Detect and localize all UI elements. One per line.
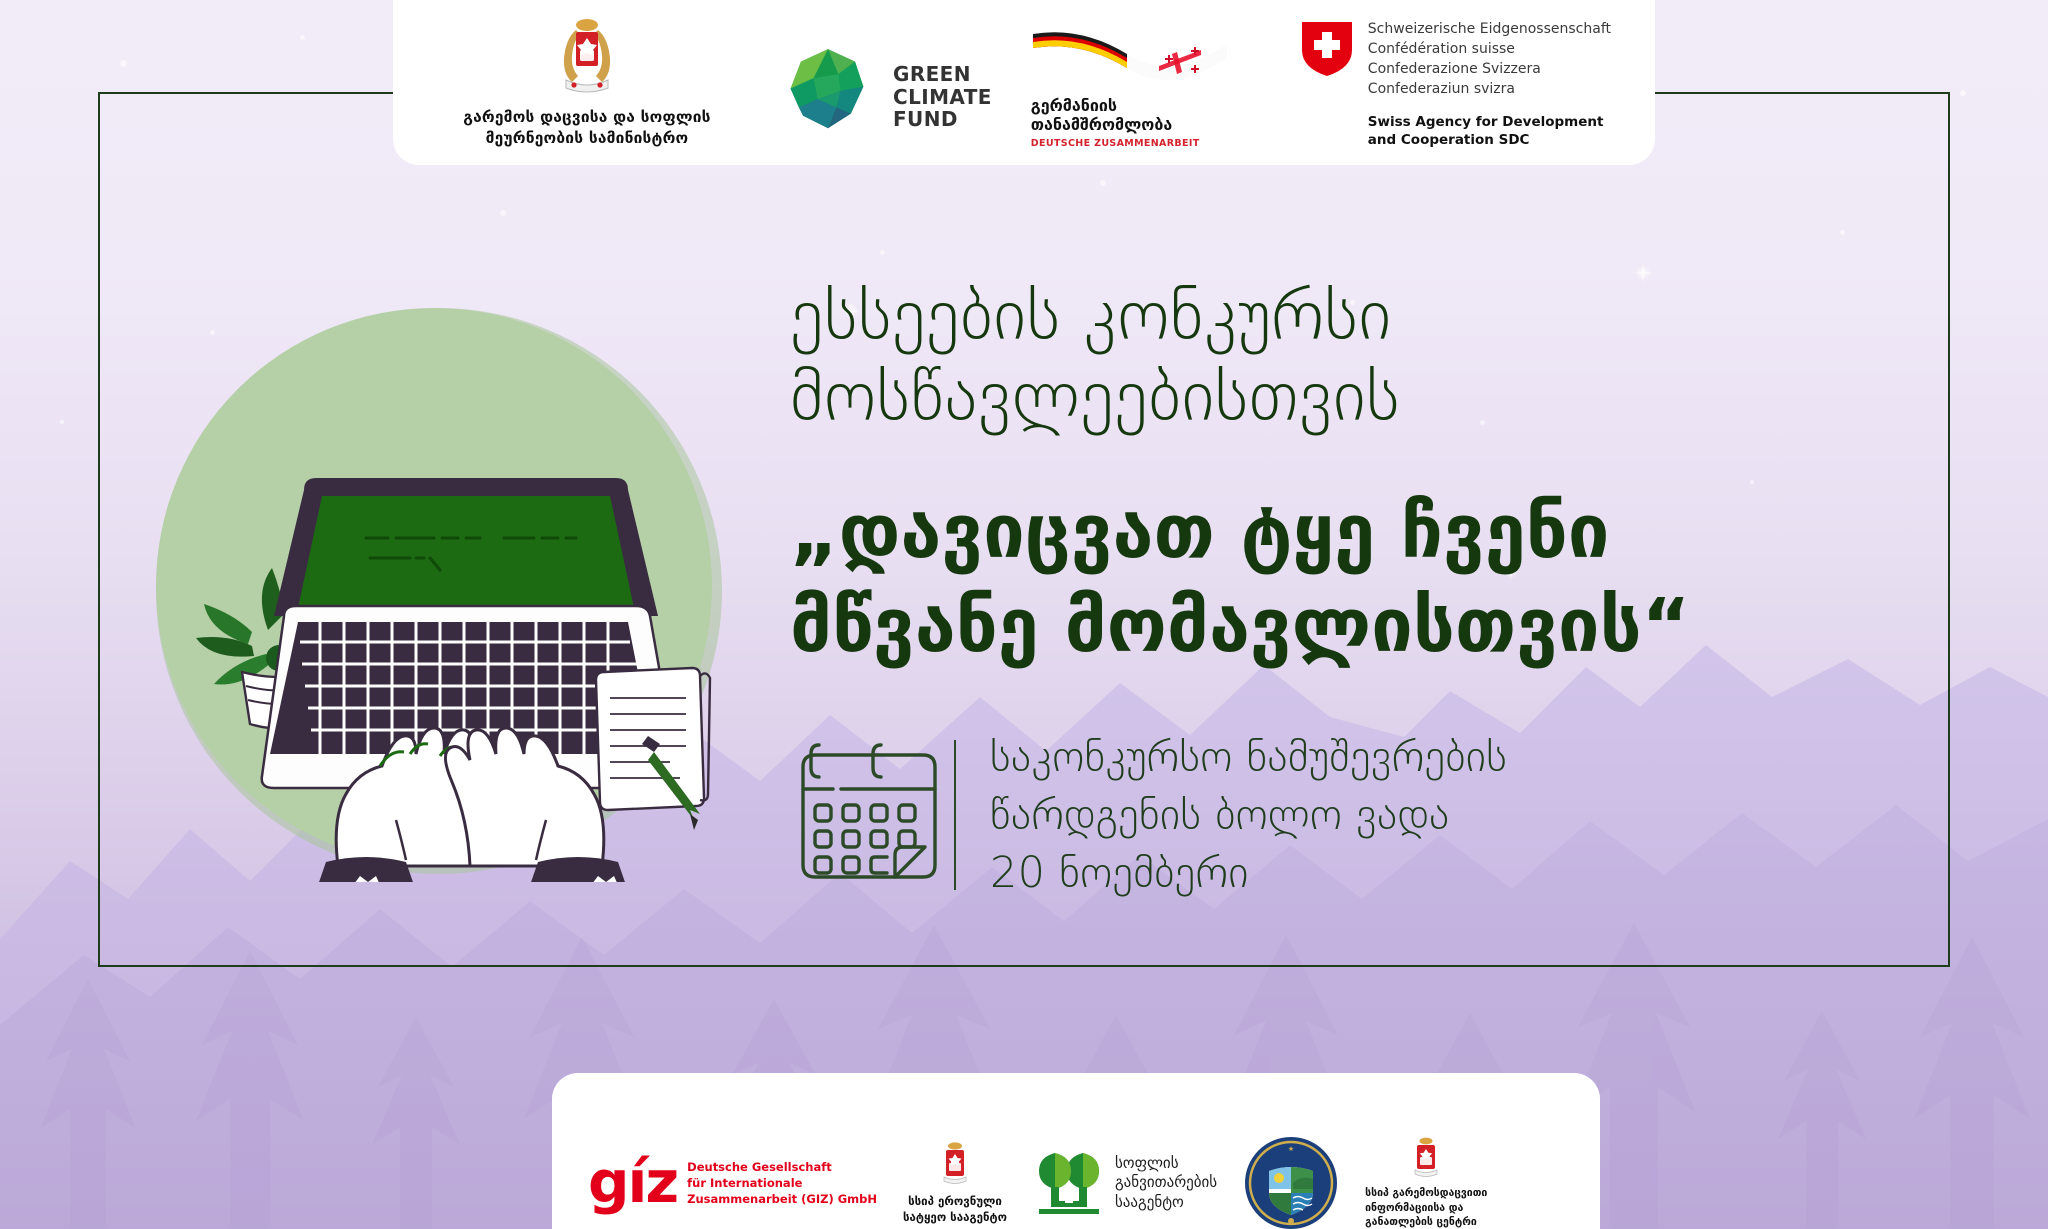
- subtitle-line-2: მოსწავლეებისთვის: [790, 356, 1970, 437]
- nfa-line2: სატყეო სააგენტო: [903, 1210, 1007, 1226]
- swiss-sdc-line2: and Cooperation SDC: [1368, 131, 1611, 149]
- logo-giz: gíz Deutsche Gesellschaft für Internatio…: [588, 1158, 877, 1207]
- swiss-sdc-line1: Swiss Agency for Development: [1368, 113, 1611, 131]
- laptop-illustration: [148, 300, 730, 882]
- giz-subtitle: Deutsche Gesellschaft für Internationale…: [687, 1159, 877, 1208]
- forestry-agency-label: სსიპ ეროვნული სატყეო სააგენტო: [903, 1194, 1007, 1225]
- moe-line2: მეურნეობის სამინისტრო: [463, 128, 710, 149]
- subtitle-line-1: ესსეების კონკურსი: [790, 275, 1970, 356]
- eec-line1: სსიპ გარემოსდაცვითი: [1365, 1186, 1487, 1201]
- georgia-coat-of-arms-icon: [552, 16, 622, 100]
- ministry-round-seal-icon: ★: [1243, 1135, 1339, 1229]
- eec-line2: ინფორმაციისა და: [1365, 1201, 1487, 1216]
- giz-line3: Zusammenarbeit (GIZ) GmbH: [687, 1191, 877, 1207]
- calendar-icon-wrapper: [790, 739, 950, 891]
- deadline-block: საკონკურსო ნამუშევრების წარდგენის ბოლო ვ…: [790, 728, 1970, 902]
- svg-text:★: ★: [1288, 1145, 1294, 1153]
- logo-ministry-seal: ★: [1243, 1135, 1339, 1229]
- moe-line1: გარემოს დაცვისა და სოფლის: [463, 107, 710, 128]
- swiss-line4: Confederaziun svizra: [1368, 80, 1611, 100]
- deadline-line-3: 20 ნოემბერი: [990, 844, 1507, 902]
- env-center-label: სსიპ გარემოსდაცვითი ინფორმაციისა და განა…: [1365, 1186, 1487, 1229]
- georgia-coat-of-arms-icon: [1409, 1136, 1443, 1180]
- deadline-line-1: საკონკურსო ნამუშევრების: [990, 728, 1507, 786]
- vertical-divider: [954, 740, 956, 890]
- swiss-languages: Schweizerische Eidgenossenschaft Confédé…: [1368, 20, 1611, 100]
- giz-line1: Deutsche Gesellschaft: [687, 1159, 877, 1175]
- swiss-line2: Confédération suisse: [1368, 40, 1611, 60]
- eec-line3: განათლების ცენტრი: [1365, 1215, 1487, 1229]
- headline-line-1: „დავიცვათ ტყე ჩვენი: [790, 489, 1970, 576]
- gcf-line2: CLIMATE: [893, 86, 992, 108]
- green-climate-fund-sphere-icon: [776, 45, 880, 149]
- calendar-icon: [795, 739, 945, 891]
- germ-line1: გერმანიის: [1031, 96, 1172, 115]
- logo-german-cooperation: გერმანიის თანამშრომლობა DEUTSCHE ZUSAMME…: [1031, 24, 1261, 149]
- logo-ministry-label: გარემოს დაცვისა და სოფლის მეურნეობის სამ…: [463, 107, 710, 149]
- two-trees-icon: [1033, 1149, 1105, 1217]
- rda-line3: სააგენტო: [1115, 1193, 1217, 1213]
- deadline-line-2: წარდგენის ბოლო ვადა: [990, 786, 1507, 844]
- logo-national-forestry-agency: სსიპ ეროვნული სატყეო სააგენტო: [903, 1141, 1007, 1225]
- header-partner-logos: გარემოს დაცვისა და სოფლის მეურნეობის სამ…: [393, 0, 1655, 165]
- giz-wordmark: gíz: [588, 1158, 677, 1207]
- germany-georgia-flag-ribbon-icon: [1031, 24, 1231, 94]
- headline-line-2: მწვანე მომავლისთვის“: [790, 583, 1970, 670]
- swiss-line1: Schweizerische Eidgenossenschaft: [1368, 20, 1611, 40]
- main-content: ესსეების კონკურსი მოსწავლეებისთვის „დავი…: [790, 275, 1970, 902]
- germ-line2: თანამშრომლობა: [1031, 115, 1172, 134]
- rda-line1: სოფლის: [1115, 1154, 1217, 1174]
- giz-line2: für Internationale: [687, 1175, 877, 1191]
- logo-swiss-confederation: Schweizerische Eidgenossenschaft Confédé…: [1300, 20, 1611, 149]
- poster-canvas: გარემოს დაცვისა და სოფლის მეურნეობის სამ…: [0, 0, 2048, 1229]
- logo-gcf-label: GREEN CLIMATE FUND: [893, 63, 992, 130]
- logo-ministry-of-environment: გარემოს დაცვისა და სოფლის მეურნეობის სამ…: [437, 16, 737, 149]
- nfa-line1: სსიპ ეროვნული: [903, 1194, 1007, 1210]
- logo-german-coop-label: გერმანიის თანამშრომლობა: [1031, 96, 1172, 134]
- georgia-coat-of-arms-icon: [937, 1141, 973, 1189]
- rda-line2: განვითარების: [1115, 1173, 1217, 1193]
- logo-environmental-education-center: სსიპ გარემოსდაცვითი ინფორმაციისა და განა…: [1365, 1136, 1487, 1229]
- gcf-line1: GREEN: [893, 63, 992, 85]
- rural-dev-agency-label: სოფლის განვითარების სააგენტო: [1115, 1154, 1217, 1213]
- swiss-sdc-label: Swiss Agency for Development and Coopera…: [1368, 113, 1611, 149]
- swiss-line3: Confederazione Svizzera: [1368, 60, 1611, 80]
- deadline-text: საკონკურსო ნამუშევრების წარდგენის ბოლო ვ…: [990, 728, 1507, 902]
- swiss-cross-shield-icon: [1300, 20, 1354, 78]
- notepad-and-pencil-icon: [596, 668, 710, 830]
- logo-german-coop-subtitle: DEUTSCHE ZUSAMMENARBEIT: [1031, 138, 1200, 149]
- logo-green-climate-fund: GREEN CLIMATE FUND: [776, 45, 992, 149]
- footer-partner-logos: gíz Deutsche Gesellschaft für Internatio…: [552, 1073, 1600, 1229]
- logo-swiss-text-block: Schweizerische Eidgenossenschaft Confédé…: [1368, 20, 1611, 149]
- gcf-line3: FUND: [893, 108, 992, 130]
- logo-rural-development-agency: სოფლის განვითარების სააგენტო: [1033, 1149, 1217, 1217]
